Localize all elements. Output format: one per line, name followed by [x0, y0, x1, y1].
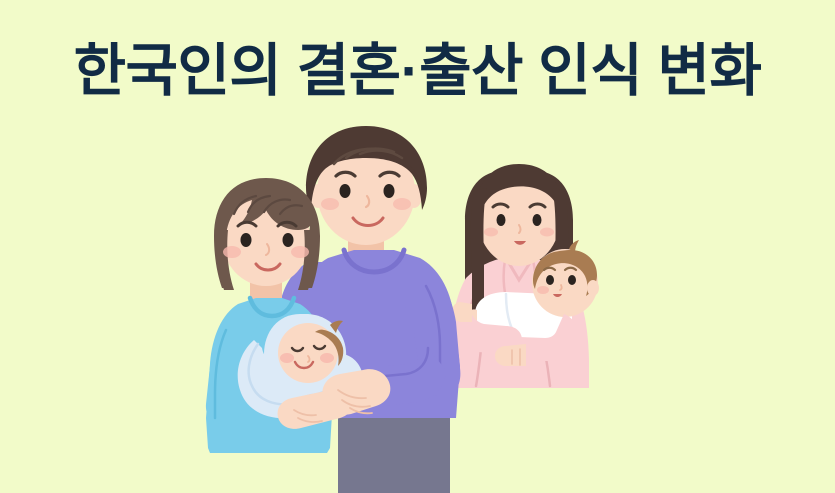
man-pants — [338, 413, 450, 493]
page-title: 한국인의 결혼·출산 인식 변화 — [0, 38, 835, 104]
man-eye-right — [384, 184, 395, 198]
figure-woman-in-pink — [449, 118, 693, 393]
baby-white-eye-left — [546, 275, 554, 285]
blue-woman-eye-left — [241, 233, 252, 247]
pink-woman-eye-right — [533, 214, 542, 226]
family-with-babies-illustration — [188, 118, 693, 493]
blue-woman-eye-right — [283, 233, 294, 247]
baby-white-eye-right — [568, 275, 576, 285]
man-eye-left — [340, 184, 351, 198]
poster-card: 한국인의 결혼·출산 인식 변화 — [0, 0, 835, 493]
pink-woman-eye-left — [497, 214, 506, 226]
